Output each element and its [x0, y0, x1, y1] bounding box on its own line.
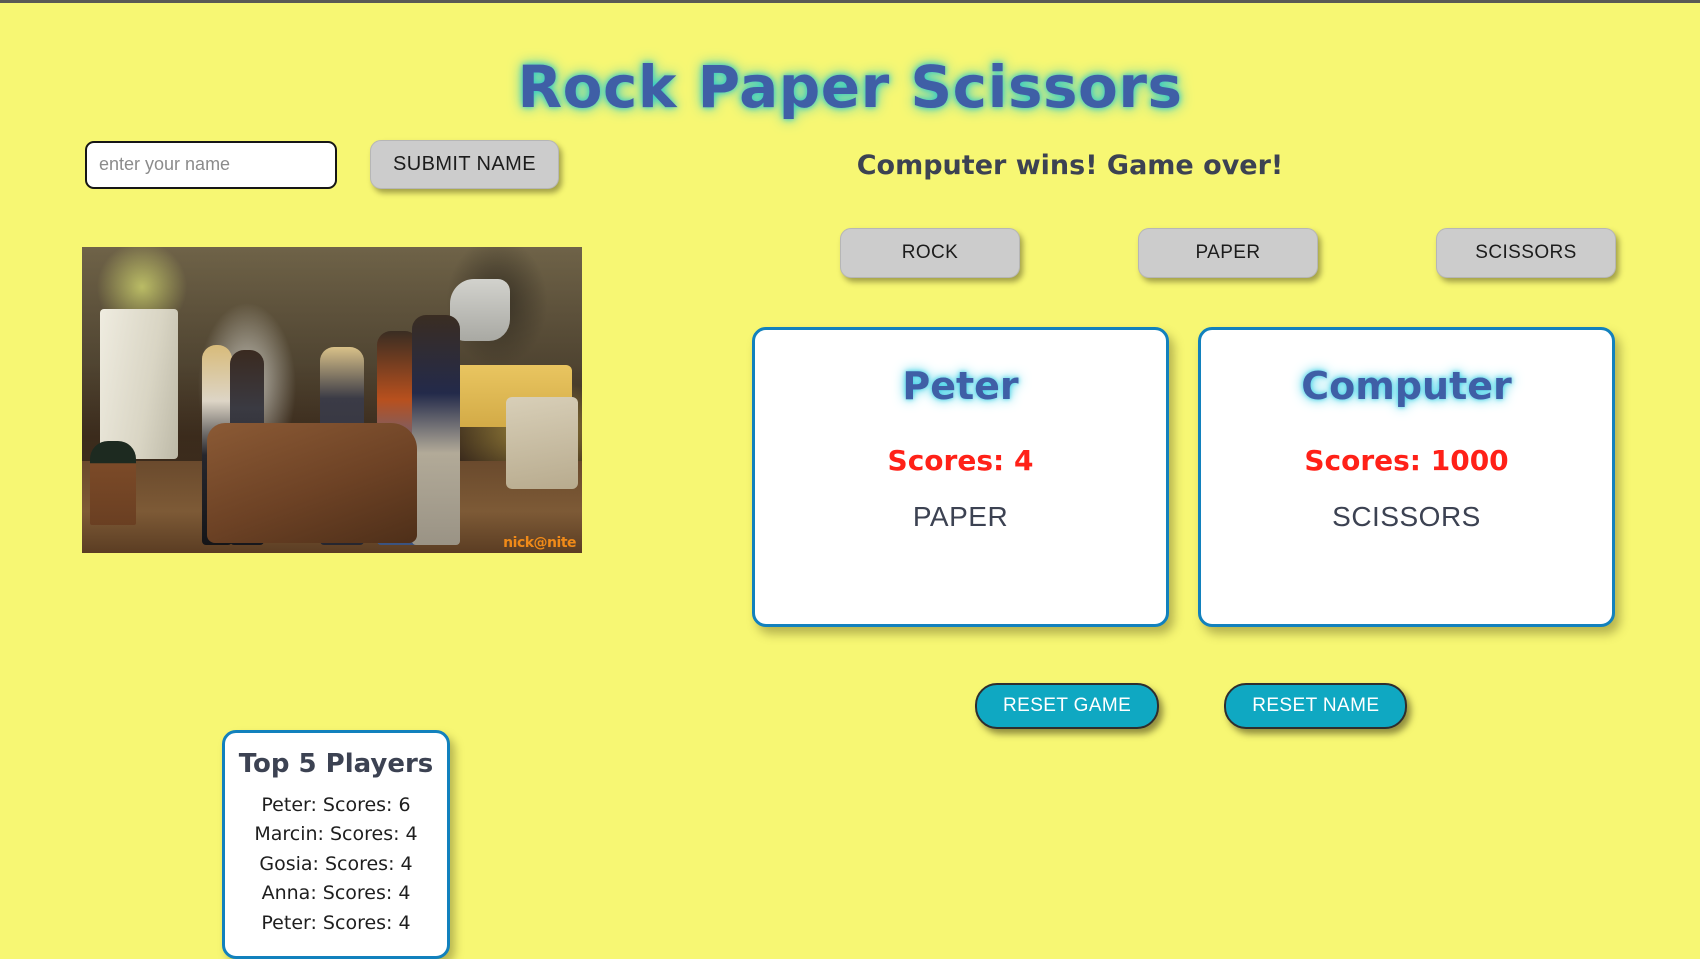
player-card-move: PAPER [755, 501, 1166, 533]
scene-person-chandler [412, 315, 460, 545]
scene-fridge [100, 309, 178, 459]
choice-button-group: ROCK PAPER SCISSORS [840, 228, 1616, 278]
scene-bar-stool [90, 441, 136, 525]
reset-game-button[interactable]: RESET GAME [975, 683, 1159, 729]
top-divider [0, 0, 1700, 3]
list-item: Gosia: Scores: 4 [235, 850, 437, 879]
show-image: nick@nite [82, 247, 582, 553]
scene-leather-couch [207, 423, 417, 543]
nick-at-nite-watermark: nick@nite [503, 535, 576, 551]
choice-button-scissors[interactable]: SCISSORS [1436, 228, 1616, 278]
list-item: Anna: Scores: 4 [235, 879, 437, 908]
submit-name-button[interactable]: SUBMIT NAME [370, 140, 559, 189]
top-5-title: Top 5 Players [235, 749, 437, 779]
choice-button-rock[interactable]: ROCK [840, 228, 1020, 278]
top-5-players-panel: Top 5 Players Peter: Scores: 6 Marcin: S… [222, 730, 450, 959]
scene-armchair [506, 397, 578, 489]
name-entry-row: SUBMIT NAME [85, 140, 559, 189]
computer-card-name: Computer [1201, 364, 1612, 408]
computer-card-score: Scores: 1000 [1201, 444, 1612, 477]
choice-button-paper[interactable]: PAPER [1138, 228, 1318, 278]
computer-card: Computer Scores: 1000 SCISSORS [1198, 327, 1615, 627]
computer-card-move: SCISSORS [1201, 501, 1612, 533]
list-item: Peter: Scores: 6 [235, 791, 437, 820]
player-card-score: Scores: 4 [755, 444, 1166, 477]
player-name-input[interactable] [85, 141, 337, 189]
list-item: Peter: Scores: 4 [235, 909, 437, 938]
player-card: Peter Scores: 4 PAPER [752, 327, 1169, 627]
reset-button-group: RESET GAME RESET NAME [975, 683, 1407, 729]
page-title: Rock Paper Scissors [0, 53, 1700, 121]
score-cards: Peter Scores: 4 PAPER Computer Scores: 1… [752, 327, 1615, 627]
reset-name-button[interactable]: RESET NAME [1224, 683, 1407, 729]
player-card-name: Peter [755, 364, 1166, 408]
game-status-message: Computer wins! Game over! [760, 150, 1380, 181]
list-item: Marcin: Scores: 4 [235, 820, 437, 849]
